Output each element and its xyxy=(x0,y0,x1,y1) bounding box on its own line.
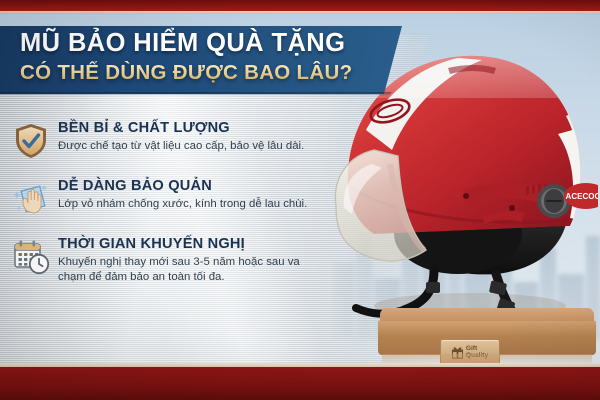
feature-desc: Khuyến nghị thay mới sau 3-5 năm hoặc sa… xyxy=(58,255,326,285)
calendar-clock-icon xyxy=(8,234,54,280)
top-red-strip xyxy=(0,0,600,11)
feature-list: BỀN BỈ & CHẤT LƯỢNG Được chế tạo từ vật … xyxy=(8,118,338,297)
promo-banner: ACECOOK xyxy=(0,0,600,400)
pedestal-face: Gift Quality xyxy=(378,321,596,355)
feature-desc: Được chế tạo từ vật liệu cao cấp, bảo vệ… xyxy=(58,139,304,154)
feature-item-maintenance: DỄ DÀNG BẢO QUẢN Lớp vỏ nhám chống xước,… xyxy=(8,176,338,222)
feature-item-durability: BỀN BỈ & CHẤT LƯỢNG Được chế tạo từ vật … xyxy=(8,118,338,164)
headline-band-edge xyxy=(0,92,392,96)
feature-item-replacement-time: THỜI GIAN KHUYẾN NGHỊ Khuyến nghị thay m… xyxy=(8,234,338,285)
page-subtitle: CÓ THỂ DÙNG ĐƯỢC BAO LÂU? xyxy=(20,61,390,85)
page-title: MŨ BẢO HIỂM QUÀ TẶNG xyxy=(20,29,390,58)
plaque-line-1: Gift xyxy=(466,345,488,352)
hand-wipe-cloth-icon xyxy=(8,176,54,222)
feature-title: THỜI GIAN KHUYẾN NGHỊ xyxy=(58,236,326,252)
helmet-side-badge: ACECOOK xyxy=(566,192,598,201)
bottom-red-strip xyxy=(0,367,600,400)
shield-check-icon xyxy=(8,118,54,164)
top-strip-highlight xyxy=(0,11,600,14)
feature-title: DỄ DÀNG BẢO QUẢN xyxy=(58,178,307,194)
feature-title: BỀN BỈ & CHẤT LƯỢNG xyxy=(58,120,304,136)
product-pedestal: Gift Quality xyxy=(372,308,600,366)
feature-desc: Lớp vỏ nhám chống xước, kính trong dễ la… xyxy=(58,197,307,212)
